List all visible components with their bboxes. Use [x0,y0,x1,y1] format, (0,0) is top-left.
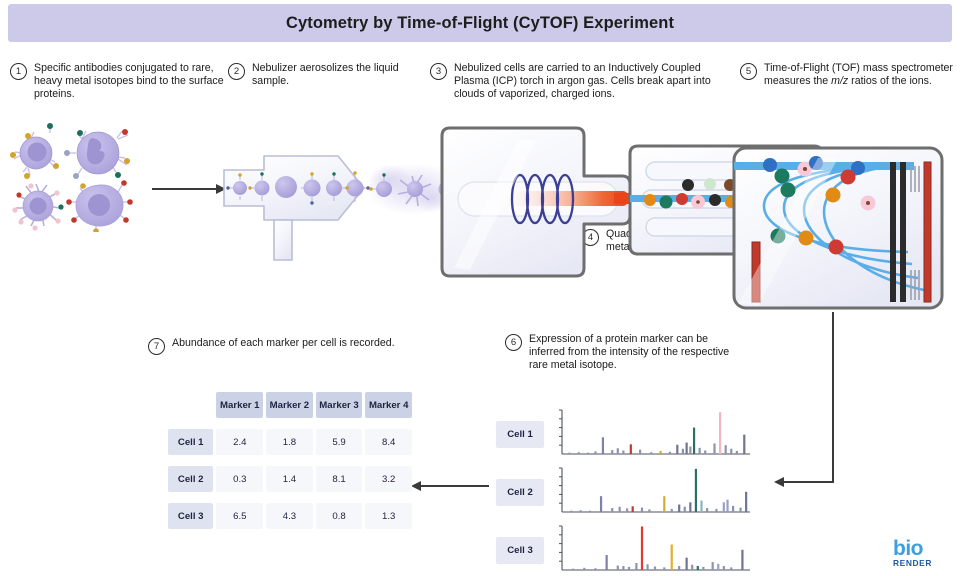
table-row: Cell 1 2.4 1.8 5.9 8.4 [168,429,412,455]
column-header-marker-3: Marker 3 [316,392,363,418]
step-number-3: 3 [430,63,447,80]
tof-chamber [734,148,942,308]
step-text-1: Specific antibodies conjugated to rare, … [34,62,225,102]
cell-1-marker-4: 8.4 [365,429,412,455]
cell-1-marker-3: 5.9 [316,429,363,455]
cell-3-marker-2: 4.3 [266,503,313,529]
cell-1-marker-2: 1.8 [266,429,313,455]
table-corner-cell [168,392,213,418]
diagram-canvas: Cytometry by Time-of-Flight (CyTOF) Expe… [0,0,960,576]
cell-2-marker-1: 0.3 [216,466,263,492]
row-header-cell-2: Cell 2 [168,466,213,492]
cell-2-marker-4: 3.2 [365,466,412,492]
step-callout-1: 1 Specific antibodies conjugated to rare… [10,62,225,102]
step-callout-3: 3 Nebulized cells are carried to an Indu… [430,62,730,102]
spectrum-row-cell-3: Cell 3 [496,524,752,576]
mass-spectrum-cell-3 [552,524,752,576]
flow-arrow-cells-to-nebulizer [152,188,218,190]
cell-3-marker-4: 1.3 [365,503,412,529]
table-row: Cell 3 6.5 4.3 0.8 1.3 [168,503,412,529]
mass-spectrum-cell-1 [552,408,752,460]
cell-macrophage [66,180,133,232]
flow-arrow-tof-to-spectra-vertical [832,312,834,482]
row-header-cell-3: Cell 3 [168,503,213,529]
flow-arrow-spectra-to-table [421,485,489,487]
step-callout-2: 2 Nebulizer aerosolizes the liquid sampl… [228,62,418,88]
header-bar: Cytometry by Time-of-Flight (CyTOF) Expe… [8,4,952,42]
labeled-cells-illustration [6,122,154,232]
step-text-2: Nebulizer aerosolizes the liquid sample. [252,62,418,88]
row-header-cell-1: Cell 1 [168,429,213,455]
mass-spectrum-cell-2 [552,466,752,518]
cell-2-marker-3: 8.1 [316,466,363,492]
cell-3-marker-1: 6.5 [216,503,263,529]
nebulizer-chamber [224,156,370,260]
icp-torch-chamber [442,128,632,276]
cell-lymphocyte [10,123,59,179]
cell-3-marker-3: 0.8 [316,503,363,529]
spectrum-row-cell-1: Cell 1 [496,408,752,460]
table-row: Cell 2 0.3 1.4 8.1 3.2 [168,466,412,492]
spectrum-label-cell-3: Cell 3 [496,537,544,564]
spectrum-row-cell-2: Cell 2 [496,466,752,518]
column-header-marker-2: Marker 2 [266,392,313,418]
cell-2-marker-2: 1.4 [266,466,313,492]
flow-arrow-tof-to-spectra-head [774,477,784,487]
cytof-instrument-illustration [218,118,948,313]
page-title: Cytometry by Time-of-Flight (CyTOF) Expe… [286,14,674,33]
marker-abundance-table: Marker 1 Marker 2 Marker 3 Marker 4 Cell… [165,381,415,563]
step-number-6: 6 [505,334,522,351]
step-text-7: Abundance of each marker per cell is rec… [172,337,395,350]
cell-1-marker-1: 2.4 [216,429,263,455]
table: Marker 1 Marker 2 Marker 3 Marker 4 Cell… [165,381,415,540]
biorender-logo: bio RENDER [893,539,951,573]
step-text-3: Nebulized cells are carried to an Induct… [454,62,730,102]
cell-monocyte [64,129,130,179]
step-number-2: 2 [228,63,245,80]
flow-arrow-tof-to-spectra-horizontal [784,481,834,483]
step-text-5: Time-of-Flight (TOF) mass spectrometer m… [764,62,955,88]
step-callout-6: 6 Expression of a protein marker can be … [505,333,740,373]
step-number-5: 5 [740,63,757,80]
spectrum-label-cell-1: Cell 1 [496,421,544,448]
column-header-marker-4: Marker 4 [365,392,412,418]
step-callout-7: 7 Abundance of each marker per cell is r… [148,337,448,355]
biorender-logo-primary: bio [893,539,951,558]
step-number-1: 1 [10,63,27,80]
biorender-logo-secondary: RENDER [893,558,951,568]
step-number-7: 7 [148,338,165,355]
table-header-row: Marker 1 Marker 2 Marker 3 Marker 4 [168,392,412,418]
column-header-marker-1: Marker 1 [216,392,263,418]
step-text-6: Expression of a protein marker can be in… [529,333,740,373]
spectrum-label-cell-2: Cell 2 [496,479,544,506]
step-callout-5: 5 Time-of-Flight (TOF) mass spectrometer… [740,62,955,88]
cell-dendritic [12,183,63,230]
